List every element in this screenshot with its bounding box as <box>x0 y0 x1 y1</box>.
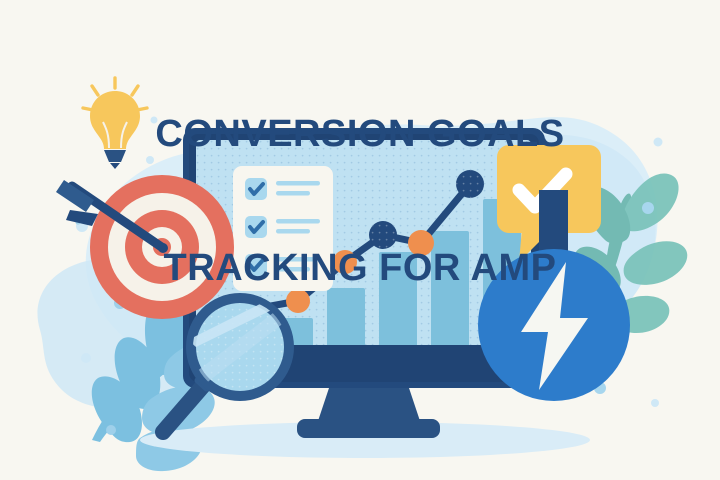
arrow-tip <box>158 243 168 253</box>
bar-4 <box>431 231 469 348</box>
checklist-card <box>233 166 333 291</box>
trend-point-2 <box>286 289 310 313</box>
trend-point-5 <box>408 230 434 256</box>
monitor-base <box>297 419 440 438</box>
monitor-stand <box>318 385 420 421</box>
bar-3 <box>379 252 417 348</box>
scene-artwork <box>0 0 720 480</box>
bar-2 <box>327 288 365 348</box>
amp-lightning-badge <box>478 249 630 401</box>
trend-point-3 <box>333 250 357 274</box>
illustration-canvas: CONVERSION GOALS TRACKING FOR AMP <box>0 0 720 480</box>
